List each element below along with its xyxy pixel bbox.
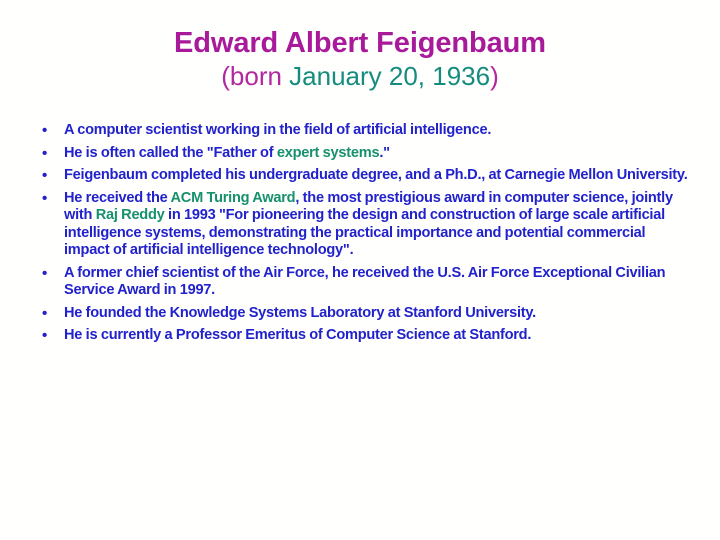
bullet-dot-icon: • xyxy=(38,167,64,185)
bullet-text-segment: A computer scientist working in the fiel… xyxy=(64,122,491,138)
list-item: •Feigenbaum completed his undergraduate … xyxy=(38,167,688,185)
bullet-list: •A computer scientist working in the fie… xyxy=(38,122,688,350)
bullet-father-expert-systems: He is often called the "Father of expert… xyxy=(64,145,688,163)
bullet-text-segment: He is often called the "Father of xyxy=(64,145,277,161)
list-item: •A computer scientist working in the fie… xyxy=(38,122,688,140)
bullet-dot-icon: • xyxy=(38,327,64,345)
bullet-air-force: A former chief scientist of the Air Forc… xyxy=(64,265,688,300)
highlighted-term: ACM Turing Award xyxy=(171,190,296,206)
bullet-turing-award: He received the ACM Turing Award, the mo… xyxy=(64,190,688,260)
highlighted-term: expert systems xyxy=(277,145,379,161)
bullet-dot-icon: • xyxy=(38,145,64,163)
bullet-text-segment: ." xyxy=(379,145,389,161)
highlighted-term: Raj Reddy xyxy=(96,207,165,223)
bullet-dot-icon: • xyxy=(38,305,64,323)
bullet-ksl: He founded the Knowledge Systems Laborat… xyxy=(64,305,688,323)
list-item: •He received the ACM Turing Award, the m… xyxy=(38,190,688,260)
slide-subtitle: (born January 20, 1936) xyxy=(0,60,720,92)
bullet-text-segment: A former chief scientist of the Air Forc… xyxy=(64,265,665,299)
page-title: Edward Albert Feigenbaum xyxy=(0,26,720,60)
presentation-slide: Edward Albert Feigenbaum (born January 2… xyxy=(0,0,720,540)
subtitle-born-prefix: (born xyxy=(221,61,289,91)
list-item: •He is often called the "Father of exper… xyxy=(38,145,688,163)
subtitle-birth-date: January 20, 1936 xyxy=(289,61,490,91)
bullet-professor-emeritus: He is currently a Professor Emeritus of … xyxy=(64,327,688,345)
bullet-dot-icon: • xyxy=(38,265,64,283)
list-item: •He founded the Knowledge Systems Labora… xyxy=(38,305,688,323)
bullet-text-segment: He is currently a Professor Emeritus of … xyxy=(64,327,531,343)
bullet-text-segment: He founded the Knowledge Systems Laborat… xyxy=(64,305,536,321)
list-item: •A former chief scientist of the Air For… xyxy=(38,265,688,300)
bullet-ai-scientist: A computer scientist working in the fiel… xyxy=(64,122,688,140)
subtitle-close-paren: ) xyxy=(490,61,499,91)
bullet-dot-icon: • xyxy=(38,122,64,140)
slide-title-block: Edward Albert Feigenbaum (born January 2… xyxy=(0,26,720,92)
bullet-education: Feigenbaum completed his undergraduate d… xyxy=(64,167,688,185)
bullet-dot-icon: • xyxy=(38,190,64,208)
list-item: •He is currently a Professor Emeritus of… xyxy=(38,327,688,345)
bullet-text-segment: He received the xyxy=(64,190,171,206)
bullet-text-segment: Feigenbaum completed his undergraduate d… xyxy=(64,167,688,183)
